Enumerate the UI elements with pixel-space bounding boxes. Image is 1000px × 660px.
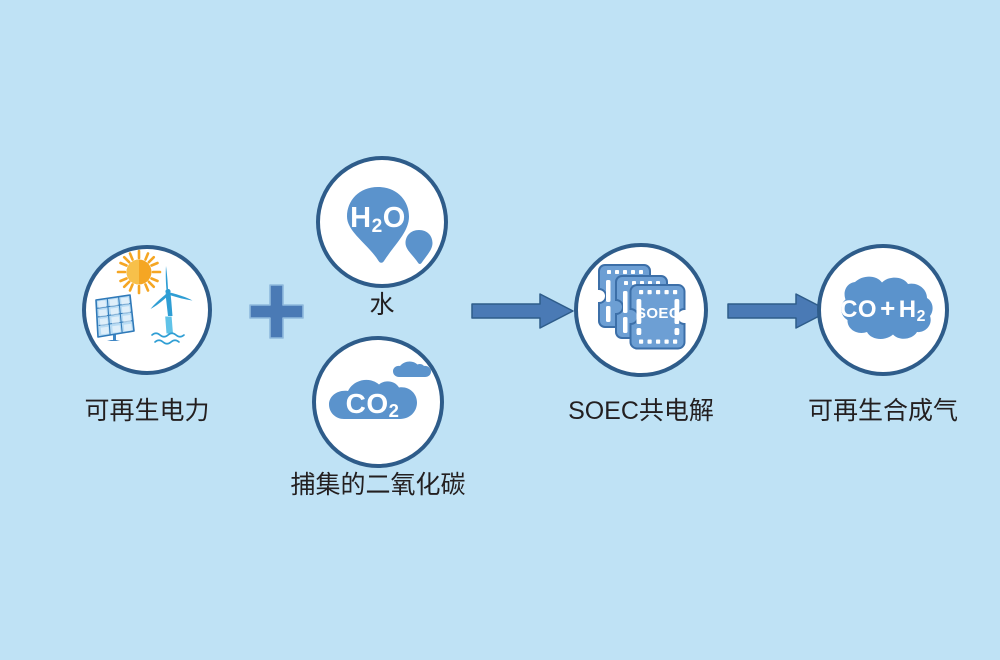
solar-panel-icon [96, 295, 134, 341]
small-cloud-icon [393, 361, 431, 377]
co2-formula-main: CO [346, 388, 389, 419]
syngas-formula-sub: 2 [917, 308, 926, 325]
co2-formula-sub: 2 [389, 400, 400, 421]
sun-icon [118, 251, 160, 293]
water-label: 水 [282, 290, 482, 320]
node-soec: SOEC [574, 243, 708, 377]
node-syngas: CO+H2 [817, 244, 949, 376]
syngas-formula-plus: + [877, 293, 899, 324]
water-formula-h: H [350, 202, 371, 234]
syngas-label: 可再生合成气 [783, 396, 983, 426]
syngas-formula-co: CO [840, 296, 877, 323]
soec-stack-label: SOEC [630, 305, 686, 322]
diagram-canvas: 可再生电力 + H2O 水 [0, 0, 1000, 660]
arrow-right-icon [472, 294, 573, 328]
renewable-power-label: 可再生电力 [22, 396, 272, 426]
co2-formula: CO2 [312, 388, 433, 420]
wind-turbine-icon [151, 266, 193, 334]
node-captured-co2: CO2 [312, 336, 444, 468]
syngas-formula-h: H [899, 296, 917, 323]
soec-label: SOEC共电解 [541, 396, 741, 426]
syngas-formula: CO+H2 [817, 293, 949, 324]
water-formula-sub: 2 [372, 216, 383, 237]
small-droplet-icon [406, 230, 433, 264]
node-renewable-power [82, 245, 212, 375]
node-water: H2O [316, 156, 448, 288]
arrow-right-icon [728, 294, 829, 328]
arrow-1 [470, 291, 576, 331]
captured-co2-label: 捕集的二氧化碳 [253, 470, 503, 500]
water-formula-o: O [383, 202, 406, 234]
water-waves-icon [152, 333, 184, 343]
water-formula: H2O [316, 202, 440, 235]
